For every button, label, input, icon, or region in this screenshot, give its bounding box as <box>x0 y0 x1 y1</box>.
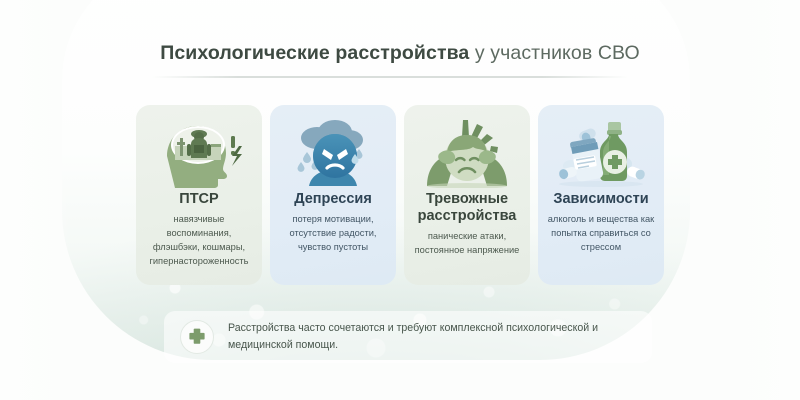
card-depression[interactable]: Депрессия потеря мотивации, отсутствие р… <box>270 105 396 285</box>
page-title-normal: у участников СВО <box>469 42 639 64</box>
sad-face-rain-cloud-icon <box>287 115 379 189</box>
card-anxiety[interactable]: Тревожные расстройства панические атаки,… <box>404 105 530 285</box>
card-title: Тревожные расстройства <box>411 191 523 225</box>
page-title-bold: Психологические расстройства <box>160 42 469 64</box>
bottle-pills-icon <box>551 115 651 189</box>
title-divider <box>152 76 628 78</box>
card-description: алкоголь и вещества как попытка справить… <box>545 213 657 255</box>
card-title: Зависимости <box>553 191 648 208</box>
disorder-card-list: ПТСР навязчивые воспоминания, флэшбэки, … <box>136 105 664 285</box>
header: Психологические расстройства у участнико… <box>0 42 800 65</box>
card-title: ПТСР <box>179 191 218 208</box>
head-soldier-thought-icon <box>151 115 247 189</box>
card-addiction[interactable]: Зависимости алкоголь и вещества как попы… <box>538 105 664 285</box>
infographic-stage: Психологические расстройства у участнико… <box>0 0 800 400</box>
page-title: Психологические расстройства у участнико… <box>0 42 800 65</box>
stressed-person-head-hands-icon <box>417 115 517 189</box>
card-description: навязчивые воспоминания, флэшбэки, кошма… <box>143 213 255 269</box>
medical-cross-icon <box>180 320 214 354</box>
card-ptsr[interactable]: ПТСР навязчивые воспоминания, флэшбэки, … <box>136 105 262 285</box>
card-title: Депрессия <box>294 191 372 208</box>
footer-note: Расстройства часто сочетаются и требуют … <box>164 311 652 363</box>
card-description: потеря мотивации, отсутствие радости, чу… <box>277 213 389 255</box>
footer-text: Расстройства часто сочетаются и требуют … <box>228 320 636 354</box>
card-description: панические атаки, постоянное напряжение <box>411 230 523 258</box>
